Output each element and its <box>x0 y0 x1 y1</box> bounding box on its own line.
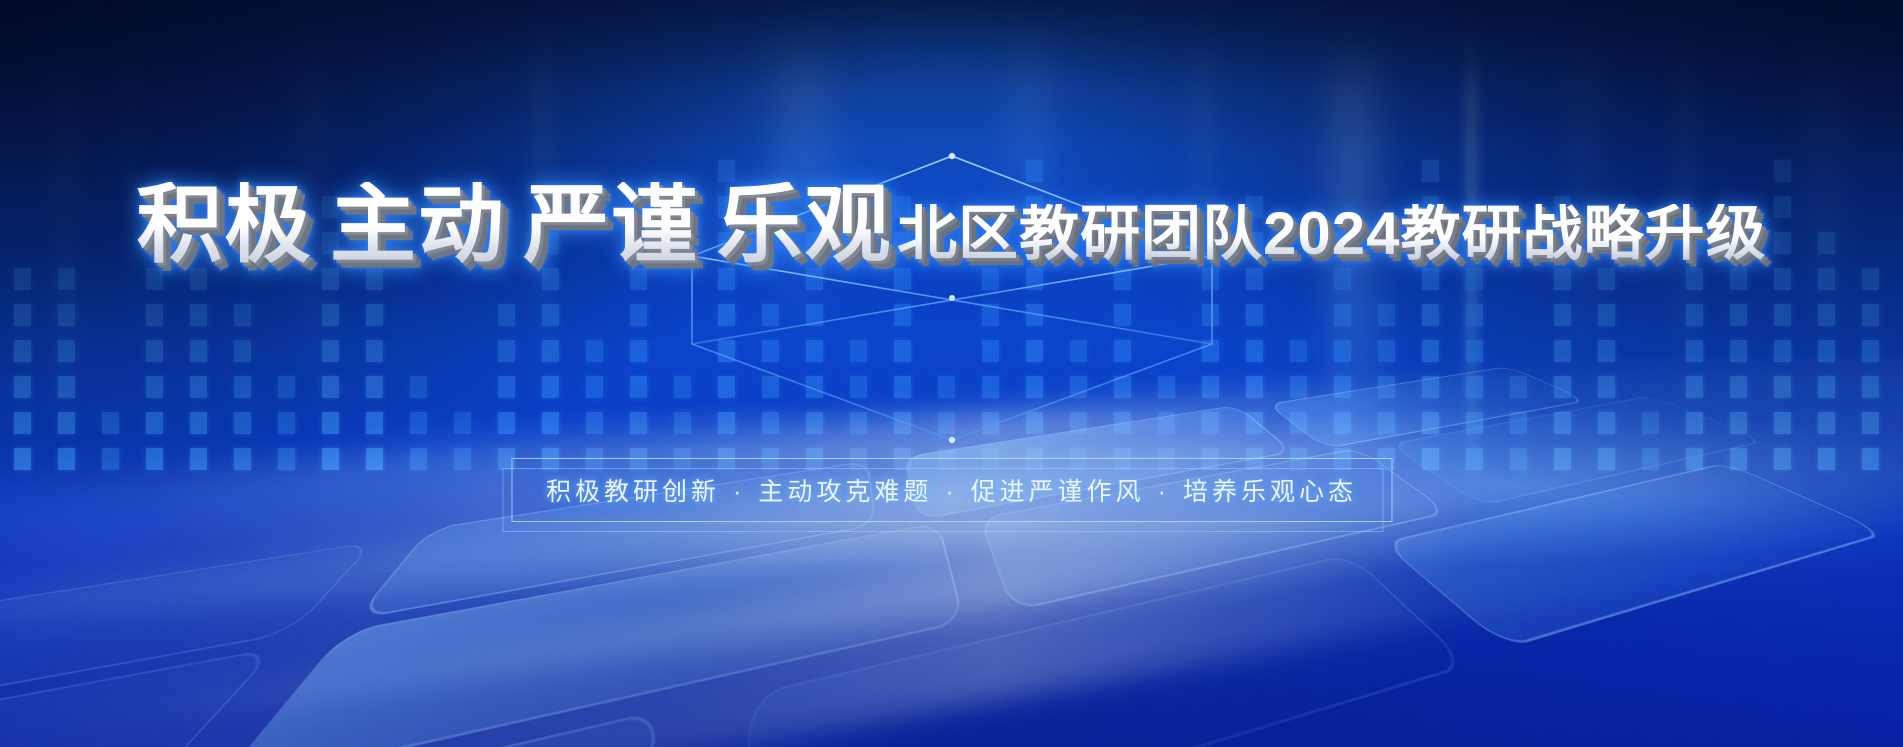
pixel-block <box>674 412 691 434</box>
pixel-block <box>1026 376 1043 398</box>
pixel-block <box>14 268 31 290</box>
pixel-block <box>1686 448 1703 470</box>
pixel-block <box>1510 448 1527 470</box>
pixel-block <box>1466 376 1483 398</box>
pixel-block <box>234 448 251 470</box>
pixel-block <box>58 448 75 470</box>
pixel-block <box>1026 412 1043 434</box>
title-separator-dot: · <box>313 206 330 244</box>
pixel-block <box>1466 412 1483 434</box>
floor-tile <box>1267 366 1588 449</box>
pixel-block <box>102 412 119 434</box>
banner-content: 积极·主动·严谨·乐观 北区教研团队2024教研战略升级 <box>0 0 1903 268</box>
pixel-block <box>1554 304 1571 326</box>
pixel-block <box>322 376 339 398</box>
pixel-block <box>1598 448 1615 470</box>
pixel-block <box>322 340 339 362</box>
pixel-block <box>498 304 515 326</box>
pixel-block <box>1730 376 1747 398</box>
banner-root: 积极·主动·严谨·乐观 北区教研团队2024教研战略升级 积极教研创新·主动攻克… <box>0 0 1903 747</box>
pixel-block <box>1466 448 1483 470</box>
pixel-block <box>762 376 779 398</box>
pixel-block <box>1598 376 1615 398</box>
tagline-text: 积极教研创新·主动攻克难题·促进严谨作风·培养乐观心态 <box>546 472 1357 508</box>
pixel-block <box>454 448 471 470</box>
pixel-block <box>1290 412 1307 434</box>
pixel-block <box>1378 376 1395 398</box>
pixel-block <box>278 412 295 434</box>
pixel-block <box>58 376 75 398</box>
pixel-block <box>14 412 31 434</box>
pixel-block <box>1862 268 1879 290</box>
pixel-block <box>1378 412 1395 434</box>
pixel-block <box>1818 376 1835 398</box>
pixel-block <box>1774 376 1791 398</box>
pixel-block <box>1686 304 1703 326</box>
pixel-block <box>982 376 999 398</box>
pixel-block <box>850 376 867 398</box>
pixel-block <box>1730 268 1747 290</box>
pixel-block <box>718 376 735 398</box>
pixel-block <box>366 448 383 470</box>
floor-tile <box>211 522 964 747</box>
pixel-block <box>498 376 515 398</box>
pixel-block <box>1598 340 1615 362</box>
pixel-block <box>1026 304 1043 326</box>
pixel-block <box>1114 304 1131 326</box>
pixel-block <box>1246 376 1263 398</box>
pixel-block <box>630 304 647 326</box>
pixel-block <box>234 412 251 434</box>
floor-light-sweep <box>0 363 1903 747</box>
pixel-block <box>1334 304 1351 326</box>
pixel-block <box>58 304 75 326</box>
pixel-block <box>14 340 31 362</box>
tagline-separator: · <box>1145 478 1183 506</box>
pixel-block <box>894 412 911 434</box>
pixel-block <box>410 412 427 434</box>
title-word: 主动 <box>330 177 506 273</box>
pixel-block <box>1818 268 1835 290</box>
pixel-block <box>1510 376 1527 398</box>
pixel-block <box>146 448 163 470</box>
pixel-block <box>1246 304 1263 326</box>
pixel-block <box>1202 268 1219 290</box>
pixel-block <box>630 412 647 434</box>
pixel-block <box>1818 304 1835 326</box>
pixel-block <box>1422 304 1439 326</box>
banner-subtitle: 北区教研团队2024教研战略升级 <box>897 204 1766 264</box>
pixel-block <box>1422 340 1439 362</box>
pixel-block <box>1686 340 1703 362</box>
pixel-block <box>806 412 823 434</box>
pixel-block <box>322 448 339 470</box>
pixel-block <box>190 412 207 434</box>
pixel-block <box>762 304 779 326</box>
pixel-block <box>1290 340 1307 362</box>
pixel-block <box>542 412 559 434</box>
title-separator-dot: · <box>699 206 716 244</box>
pixel-block <box>542 376 559 398</box>
pixel-block <box>1598 412 1615 434</box>
pixel-block <box>718 304 735 326</box>
pixel-block <box>806 340 823 362</box>
pixel-block <box>1114 412 1131 434</box>
title-word: 积极 <box>137 177 313 273</box>
pixel-block <box>1642 412 1659 434</box>
pixel-block <box>58 268 75 290</box>
pixel-block <box>1774 412 1791 434</box>
pixel-block <box>1554 268 1571 290</box>
pixel-block <box>322 304 339 326</box>
pixel-block <box>14 448 31 470</box>
pixel-block <box>1202 304 1219 326</box>
pixel-block <box>1158 376 1175 398</box>
pixel-block <box>190 376 207 398</box>
pixel-block <box>366 304 383 326</box>
pixel-block <box>1862 340 1879 362</box>
pixel-block <box>1554 376 1571 398</box>
pixel-block <box>278 448 295 470</box>
floor-tile <box>0 646 278 747</box>
pixel-block <box>1466 304 1483 326</box>
pixel-block <box>1070 376 1087 398</box>
pixel-block <box>1070 412 1087 434</box>
pixel-block <box>1422 448 1439 470</box>
pixel-block <box>1862 448 1879 470</box>
floor-tile <box>733 554 1470 747</box>
pixel-block <box>1818 412 1835 434</box>
pixel-block <box>234 376 251 398</box>
title-word: 乐观 <box>717 177 893 273</box>
pixel-block <box>1466 268 1483 290</box>
pixel-block <box>498 412 515 434</box>
tagline-item: 促进严谨作风 <box>971 478 1145 506</box>
pixel-block <box>1026 340 1043 362</box>
pixel-block <box>1862 376 1879 398</box>
pixel-block <box>1334 376 1351 398</box>
floor-tile-plane <box>0 357 1903 747</box>
pixel-block <box>1774 304 1791 326</box>
pixel-block <box>1598 268 1615 290</box>
pixel-block <box>146 376 163 398</box>
pixel-block <box>102 448 119 470</box>
title-word: 严谨 <box>523 177 699 273</box>
pixel-block <box>1202 376 1219 398</box>
pixel-block <box>1818 340 1835 362</box>
pixel-block <box>234 340 251 362</box>
pixel-block <box>14 304 31 326</box>
tagline-box: 积极教研创新·主动攻克难题·促进严谨作风·培养乐观心态 <box>511 458 1392 522</box>
pixel-block <box>1686 376 1703 398</box>
floor-tile <box>0 709 663 747</box>
pixel-block <box>938 412 955 434</box>
pixel-block <box>982 268 999 290</box>
pixel-block <box>366 412 383 434</box>
pixel-block <box>498 340 515 362</box>
pixel-block <box>14 376 31 398</box>
pixel-block <box>146 304 163 326</box>
pixel-block <box>1114 268 1131 290</box>
tagline-separator: · <box>932 478 970 506</box>
pixel-block <box>1334 268 1351 290</box>
tagline-item: 主动攻克难题 <box>758 478 932 506</box>
pixel-block <box>278 376 295 398</box>
pixel-block <box>322 412 339 434</box>
pixel-block <box>894 304 911 326</box>
tagline-item: 培养乐观心态 <box>1183 478 1357 506</box>
banner-main-title: 积极·主动·严谨·乐观 <box>137 182 893 268</box>
pixel-block <box>894 268 911 290</box>
pixel-block <box>982 412 999 434</box>
pixel-block <box>1114 376 1131 398</box>
pixel-block <box>1554 448 1571 470</box>
pixel-block <box>1686 412 1703 434</box>
pixel-block <box>674 376 691 398</box>
pixel-block <box>1158 412 1175 434</box>
floor-tile <box>1382 462 1887 648</box>
pixel-block <box>1598 304 1615 326</box>
pixel-block <box>454 412 471 434</box>
pixel-block <box>1730 340 1747 362</box>
pixel-block <box>1334 340 1351 362</box>
pixel-block <box>1334 412 1351 434</box>
pixel-block <box>1246 268 1263 290</box>
pixel-block <box>850 340 867 362</box>
pixel-block <box>1774 268 1791 290</box>
pixel-block <box>190 340 207 362</box>
pixel-block <box>1686 268 1703 290</box>
floor-tile-wrapper <box>0 357 1903 747</box>
pixel-block <box>1422 268 1439 290</box>
pixel-block <box>1466 340 1483 362</box>
pixel-block <box>982 340 999 362</box>
pixel-block <box>938 376 955 398</box>
pixel-block <box>894 376 911 398</box>
pixel-block <box>630 340 647 362</box>
pixel-block <box>1818 448 1835 470</box>
pixel-block <box>1862 412 1879 434</box>
pixel-block <box>1246 412 1263 434</box>
pixel-block <box>1730 304 1747 326</box>
pixel-block <box>366 340 383 362</box>
pixel-block <box>1378 304 1395 326</box>
pixel-block <box>982 304 999 326</box>
pixel-block <box>146 340 163 362</box>
pixel-block <box>1554 412 1571 434</box>
pixel-block <box>718 412 735 434</box>
pixel-block <box>1642 448 1659 470</box>
pixel-block <box>1378 340 1395 362</box>
tagline-frame: 积极教研创新·主动攻克难题·促进严谨作风·培养乐观心态 <box>511 458 1392 522</box>
pixel-block <box>850 412 867 434</box>
pixel-block <box>146 412 163 434</box>
pixel-block <box>1774 340 1791 362</box>
pixel-block <box>586 340 603 362</box>
pixel-block <box>762 412 779 434</box>
pixel-block <box>586 412 603 434</box>
perspective-floor-layer <box>0 357 1903 747</box>
pixel-block <box>806 376 823 398</box>
pixel-block <box>58 412 75 434</box>
pixel-block <box>58 340 75 362</box>
pixel-block <box>1026 268 1043 290</box>
pixel-block <box>1202 340 1219 362</box>
pixel-block <box>1290 376 1307 398</box>
pixel-block <box>410 376 427 398</box>
pixel-block <box>1862 304 1879 326</box>
pixel-block <box>806 304 823 326</box>
tagline-separator: · <box>720 478 758 506</box>
pixel-block <box>542 304 559 326</box>
pixel-block <box>1730 448 1747 470</box>
tagline-item: 积极教研创新 <box>546 478 720 506</box>
floor-glow <box>0 357 1903 747</box>
pixel-block <box>630 376 647 398</box>
pixel-block <box>1554 340 1571 362</box>
pixel-block <box>1422 412 1439 434</box>
pixel-block <box>1510 412 1527 434</box>
pixel-block <box>1246 340 1263 362</box>
pixel-block <box>586 376 603 398</box>
pixel-block <box>1730 412 1747 434</box>
pixel-block <box>542 340 559 362</box>
pixel-block <box>1774 448 1791 470</box>
pixel-block <box>762 340 779 362</box>
pixel-block <box>718 340 735 362</box>
floor-light-sweep <box>0 357 1903 747</box>
pixel-block <box>1114 340 1131 362</box>
pixel-block <box>894 340 911 362</box>
pixel-block <box>1422 376 1439 398</box>
pixel-block <box>410 448 427 470</box>
pixel-block <box>1202 412 1219 434</box>
pixel-block <box>1070 340 1087 362</box>
title-separator-dot: · <box>506 206 523 244</box>
floor-tile <box>0 541 375 747</box>
pixel-block <box>366 376 383 398</box>
pixel-block <box>190 304 207 326</box>
floor-tile <box>1389 395 1766 505</box>
pixel-block <box>190 448 207 470</box>
pixel-block <box>234 304 251 326</box>
